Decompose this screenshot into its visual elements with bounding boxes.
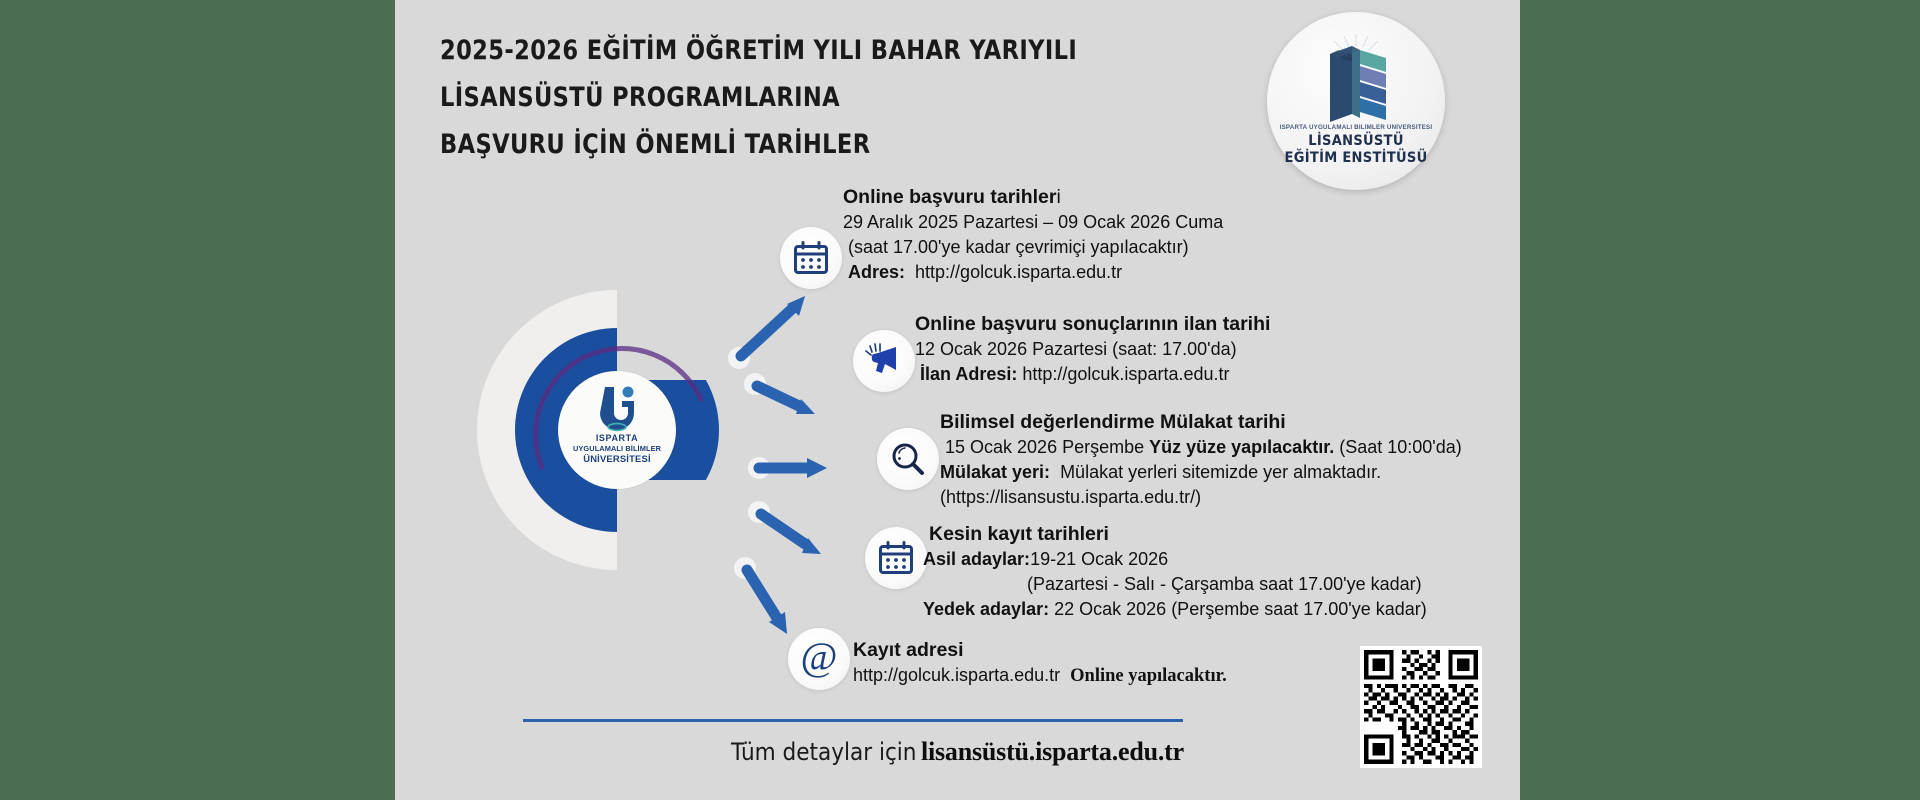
step-4-reserve-value: 22 Ocak 2026 (Perşembe saat 17.00'ye kad…: [1054, 599, 1427, 619]
title-line-3: BAŞVURU İÇİN ÖNEMLİ TARİHLER: [440, 121, 1077, 168]
institute-micro-text: ISPARTA UYGULAMALI BİLİMLER ÜNİVERSİTESİ: [1267, 124, 1445, 131]
step-2-address-label: İlan Adresi:: [920, 364, 1017, 384]
step-2-heading: Online başvuru sonuçlarının ilan tarihi: [915, 312, 1270, 337]
step-2-line-2: İlan Adresi: http://golcuk.isparta.edu.t…: [915, 362, 1270, 387]
step-3-text: Bilimsel değerlendirme Mülakat tarihi 15…: [940, 410, 1462, 510]
right-side-band: [1520, 0, 1920, 800]
step-1-icon-bubble: [780, 227, 842, 289]
step-3-place-label: Mülakat yeri:: [940, 462, 1050, 482]
step-1-address-value: http://golcuk.isparta.edu.tr: [915, 262, 1122, 282]
megaphone-icon: [865, 343, 903, 379]
title-line-1: 2025-2026 EĞİTİM ÖĞRETİM YILI BAHAR YARI…: [440, 27, 1077, 74]
institute-name: LİSANSÜSTÜ EĞİTİM ENSTİTÜSÜ: [1267, 133, 1445, 167]
step-3-heading: Bilimsel değerlendirme Mülakat tarihi: [940, 410, 1462, 435]
step-4-line-2: (Pazartesi - Salı - Çarşamba saat 17.00'…: [923, 572, 1427, 597]
center-logo-line-1: ISPARTA: [558, 433, 676, 443]
step-2-address-value: http://golcuk.isparta.edu.tr: [1022, 364, 1229, 384]
footer-site: lisansüstü.isparta.edu.tr: [921, 737, 1184, 766]
step-2-icon-bubble: [853, 330, 915, 392]
step-1-line-3: Adres: http://golcuk.isparta.edu.tr: [843, 260, 1223, 285]
magnifier-icon: [890, 441, 926, 477]
poster-root: 2025-2026 EĞİTİM ÖĞRETİM YILI BAHAR YARI…: [0, 0, 1920, 800]
step-4-text: Kesin kayıt tarihleri Asil adaylar:19-21…: [923, 522, 1427, 622]
step-4-icon-bubble: [865, 527, 927, 589]
step-2-text: Online başvuru sonuçlarının ilan tarihi …: [915, 312, 1270, 387]
left-side-band: [0, 0, 395, 800]
at-sign-icon: @: [797, 637, 841, 681]
institute-name-line-1: LİSANSÜSTÜ: [1267, 133, 1445, 150]
qr-code[interactable]: [1360, 646, 1482, 768]
title-line-2: LİSANSÜSTÜ PROGRAMLARINA: [440, 74, 1077, 121]
step-1-heading: Online başvuru tarihleri: [843, 185, 1223, 210]
step-5-note: Online yapılacaktır.: [1070, 666, 1227, 686]
center-logo-line-3: ÜNİVERSİTESİ: [558, 453, 676, 464]
step-1-line-2: (saat 17.00'ye kadar çevrimiçi yapılacak…: [843, 235, 1223, 260]
step-4-reserve-label: Yedek adaylar:: [923, 599, 1049, 619]
arrow-to-step-4: [747, 500, 831, 562]
step-3-line-3: (https://lisansustu.isparta.edu.tr/): [940, 485, 1462, 510]
step-5-text: Kayıt adresi http://golcuk.isparta.edu.t…: [853, 638, 1227, 689]
step-3-icon-bubble: [877, 428, 939, 490]
institute-logo: ISPARTA UYGULAMALI BİLİMLER ÜNİVERSİTESİ…: [1267, 12, 1445, 190]
step-1-text: Online başvuru tarihleri 29 Aralık 2025 …: [843, 185, 1223, 285]
calendar-icon: [878, 541, 914, 575]
stacked-books-icon: [1308, 32, 1404, 128]
qr-code-icon: [1360, 646, 1482, 768]
footer-divider: [523, 719, 1183, 722]
arrow-to-step-3: [747, 448, 835, 488]
center-logo-line-2: UYGULAMALI BİLİMLER: [558, 444, 676, 453]
step-4-line-1: Asil adaylar:19-21 Ocak 2026: [923, 547, 1427, 572]
footer-prefix: Tüm detaylar için: [731, 738, 916, 766]
step-4-primary-value: 19-21 Ocak 2026: [1030, 549, 1168, 569]
arrow-to-step-1: [727, 292, 817, 372]
step-1-address-label: Adres:: [848, 262, 905, 282]
poster-canvas: 2025-2026 EĞİTİM ÖĞRETİM YILI BAHAR YARI…: [395, 0, 1520, 800]
step-3-place-value: Mülakat yerleri sitemizde yer almaktadır…: [1060, 462, 1381, 482]
step-5-heading: Kayıt adresi: [853, 638, 1227, 663]
step-4-line-3: Yedek adaylar: 22 Ocak 2026 (Perşembe sa…: [923, 597, 1427, 622]
step-4-heading: Kesin kayıt tarihleri: [923, 522, 1427, 547]
arrow-to-step-2: [743, 370, 825, 426]
svg-text:@: @: [801, 637, 838, 679]
step-5-icon-bubble: @: [788, 628, 850, 690]
arrow-to-step-5: [733, 556, 809, 642]
step-5-line-1: http://golcuk.isparta.edu.tr Online yapı…: [853, 663, 1227, 689]
calendar-icon: [793, 241, 829, 275]
footer: Tüm detaylar için lisansüstü.isparta.edu…: [395, 737, 1520, 767]
step-3-line-2: Mülakat yeri: Mülakat yerleri sitemizde …: [940, 460, 1462, 485]
center-logo: ISPARTA UYGULAMALI BİLİMLER ÜNİVERSİTESİ: [558, 371, 676, 489]
step-5-url: http://golcuk.isparta.edu.tr: [853, 665, 1060, 685]
step-2-line-1: 12 Ocak 2026 Pazartesi (saat: 17.00'da): [915, 337, 1270, 362]
step-4-primary-label: Asil adaylar:: [923, 549, 1030, 569]
step-1-line-1: 29 Aralık 2025 Pazartesi – 09 Ocak 2026 …: [843, 210, 1223, 235]
page-title: 2025-2026 EĞİTİM ÖĞRETİM YILI BAHAR YARI…: [440, 27, 1125, 168]
institute-name-line-2: EĞİTİM ENSTİTÜSÜ: [1267, 150, 1445, 167]
isparta-u-monogram-icon: [595, 383, 639, 435]
step-3-line-1: 15 Ocak 2026 Perşembe Yüz yüze yapılacak…: [940, 435, 1462, 460]
